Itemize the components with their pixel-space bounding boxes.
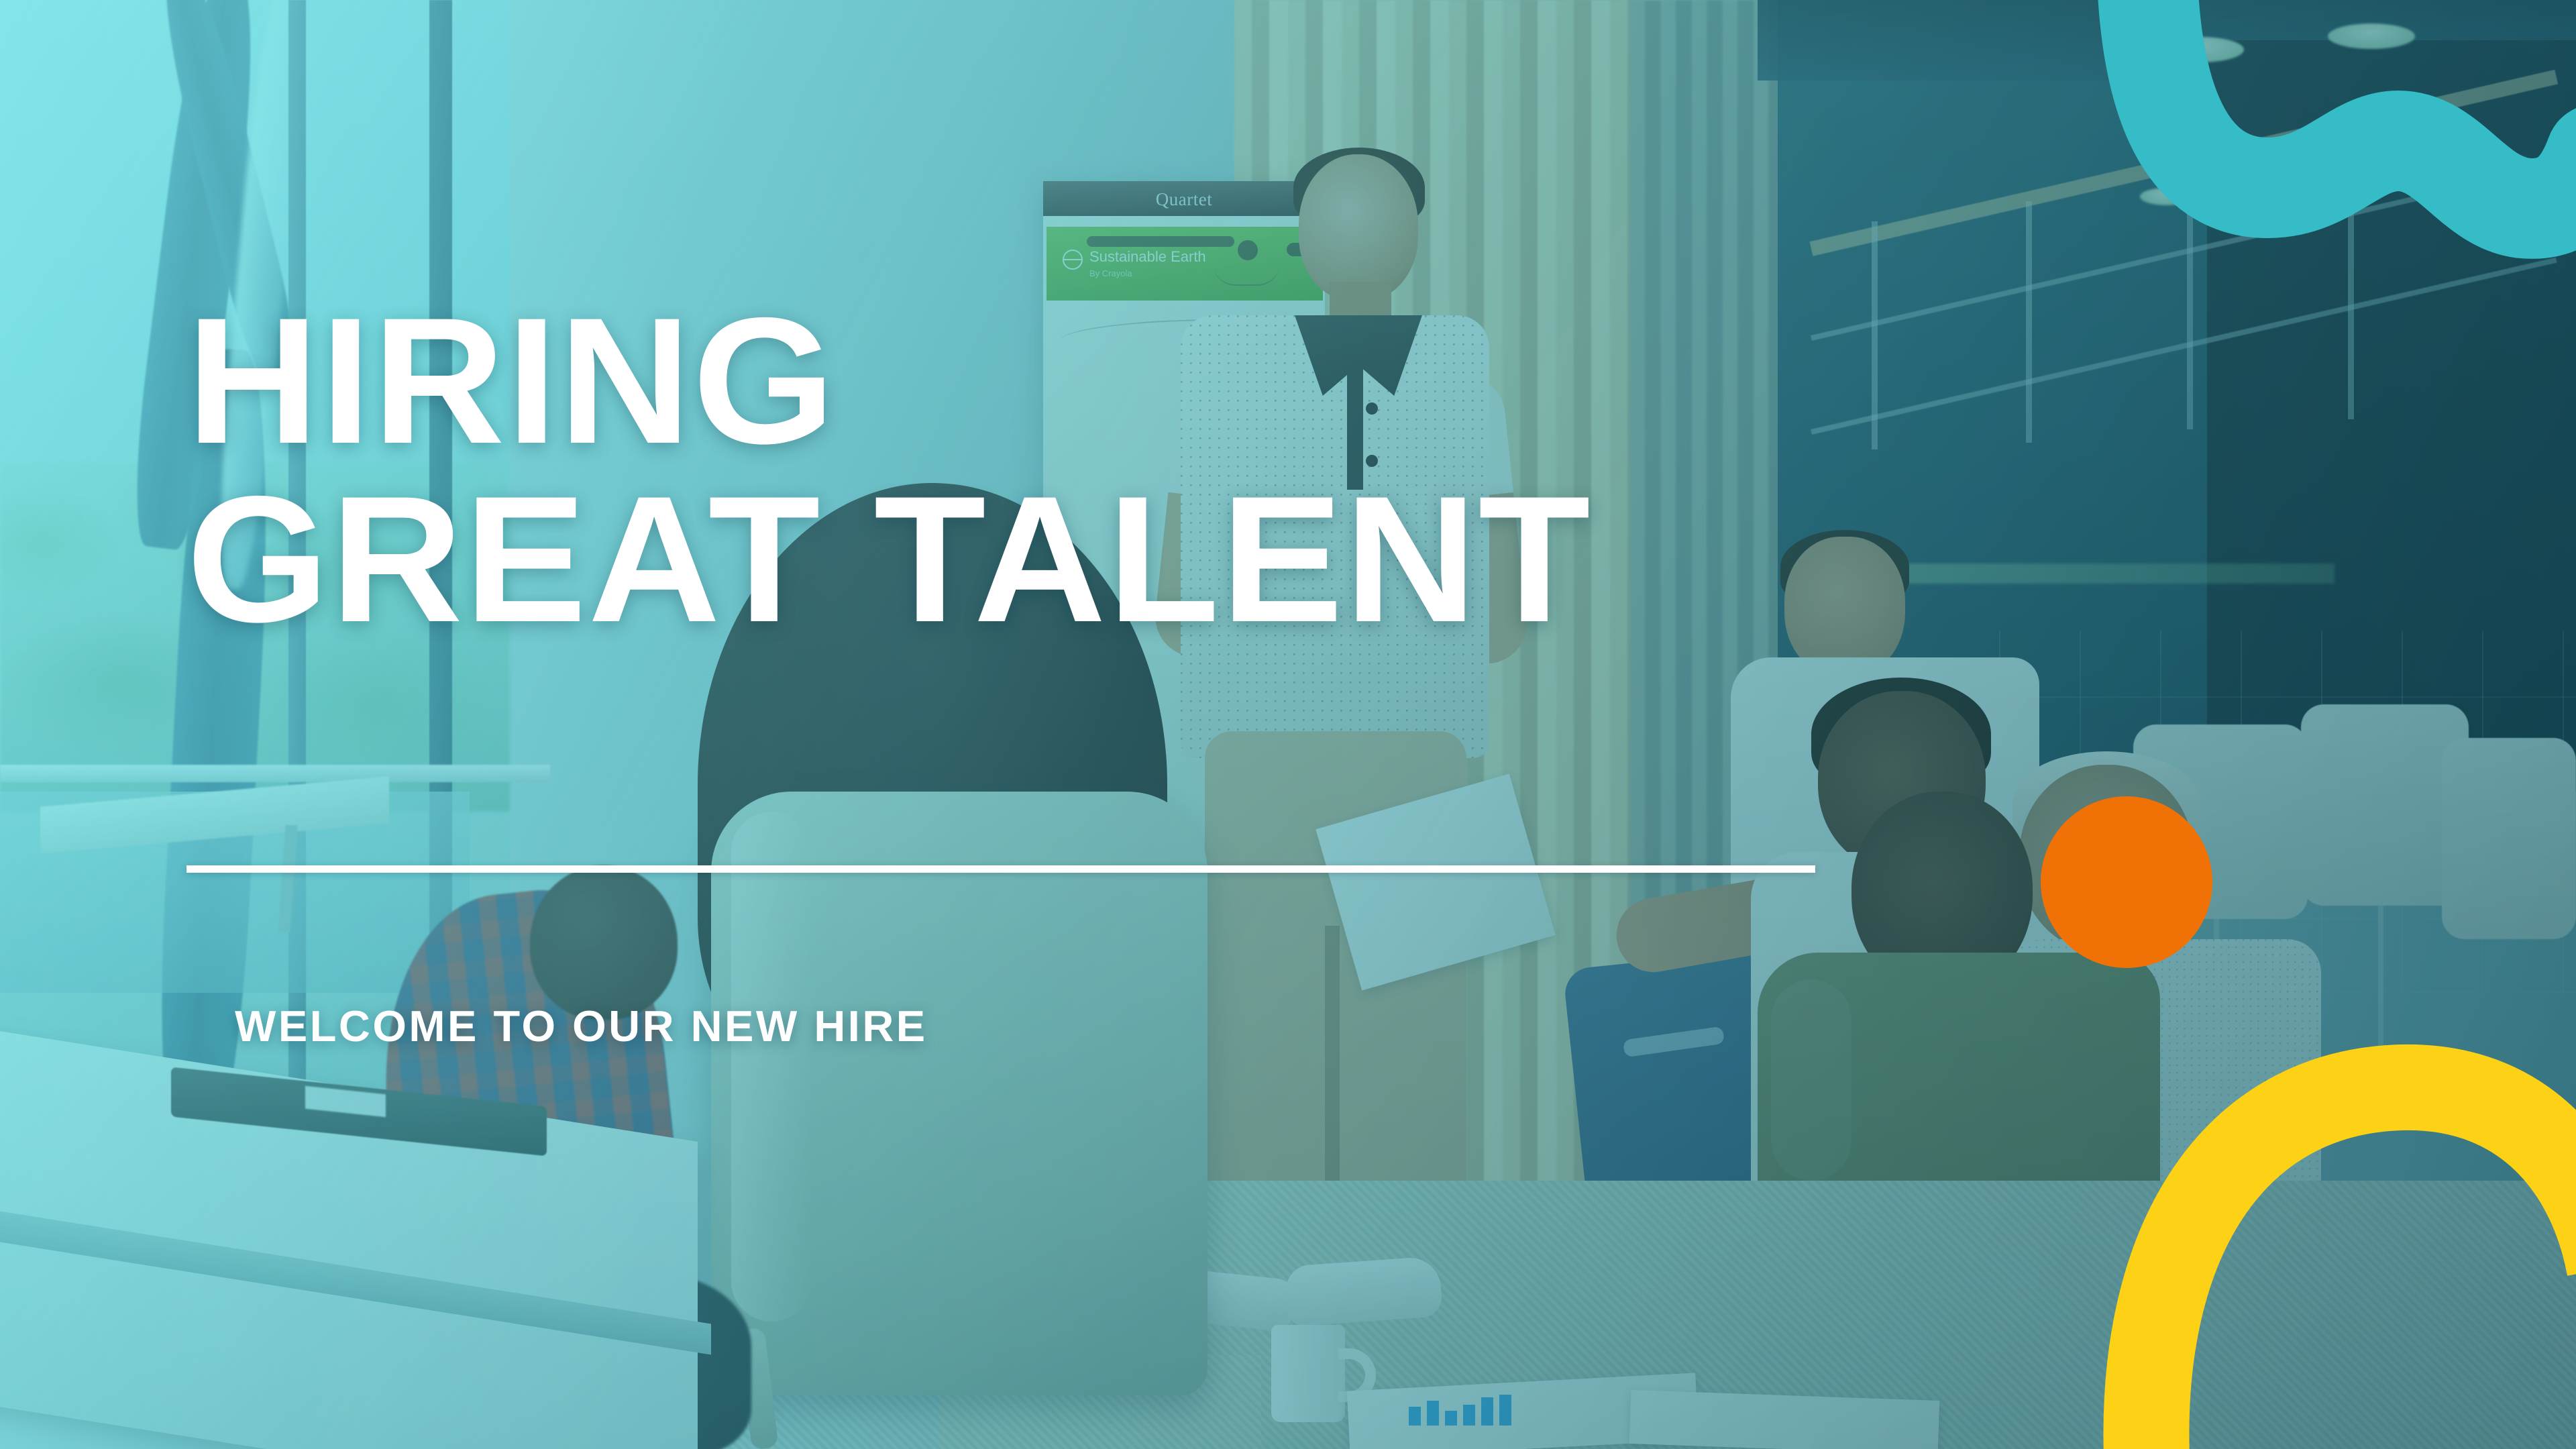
poster-canvas: Quartet Sustainable Earth By Crayola — [0, 0, 2576, 1449]
headline-line-1: HIRING — [186, 303, 1592, 458]
page-subtitle: WELCOME TO OUR NEW HIRE — [235, 1001, 928, 1051]
content-layer: HIRING GREAT TALENT WELCOME TO OUR NEW H… — [0, 0, 2576, 1449]
page-title: HIRING GREAT TALENT — [186, 303, 1564, 637]
divider-rule — [186, 865, 1815, 873]
headline-line-2: GREAT TALENT — [186, 482, 1592, 636]
